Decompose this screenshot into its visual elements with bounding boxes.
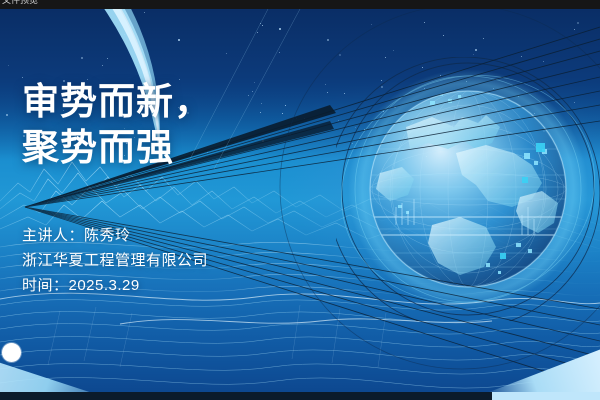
slide-title: 审势而新，聚势而强: [22, 79, 212, 171]
presenter-line: 主讲人：陈秀玲: [22, 223, 208, 248]
mouse-cursor-indicator: [2, 343, 21, 362]
digital-globe-graphic: [336, 57, 600, 321]
file-preview-window: 文件预览: [0, 0, 600, 400]
window-title: 文件预览: [2, 0, 38, 5]
slide-title-line-2: 聚势而强: [22, 127, 174, 168]
date-line: 时间：2025.3.29: [22, 273, 208, 298]
organization-line: 浙江华夏工程管理有限公司: [22, 248, 208, 273]
window-footer-bar: [0, 392, 600, 400]
window-title-bar: 文件预览: [0, 0, 600, 9]
presentation-slide: 审势而新，聚势而强 主讲人：陈秀玲 浙江华夏工程管理有限公司 时间：2025.3…: [0, 9, 600, 392]
slide-subtitle-block: 主讲人：陈秀玲 浙江华夏工程管理有限公司 时间：2025.3.29: [22, 223, 208, 298]
slide-title-line-1: 审势而新，: [22, 81, 212, 122]
footer-accent-strip: [492, 392, 600, 400]
